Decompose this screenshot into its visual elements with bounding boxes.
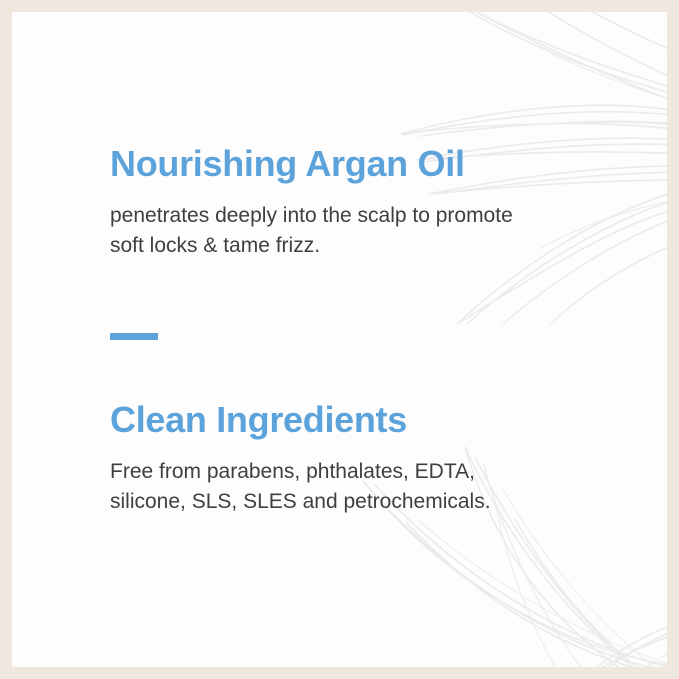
section-heading-clean-ingredients: Clean Ingredients (110, 402, 667, 438)
section-divider-rule (110, 333, 158, 340)
section-heading-argan-oil: Nourishing Argan Oil (110, 146, 667, 182)
feature-section-clean-ingredients: Clean Ingredients Free from parabens, ph… (110, 402, 667, 517)
feature-section-argan-oil: Nourishing Argan Oil penetrates deeply i… (110, 146, 667, 261)
product-feature-card: Nourishing Argan Oil penetrates deeply i… (0, 0, 679, 679)
card-inner-page: Nourishing Argan Oil penetrates deeply i… (12, 12, 667, 667)
feature-content: Nourishing Argan Oil penetrates deeply i… (110, 12, 667, 667)
section-body-clean-ingredients: Free from parabens, phthalates, EDTA, si… (110, 457, 610, 517)
section-body-argan-oil: penetrates deeply into the scalp to prom… (110, 201, 610, 261)
